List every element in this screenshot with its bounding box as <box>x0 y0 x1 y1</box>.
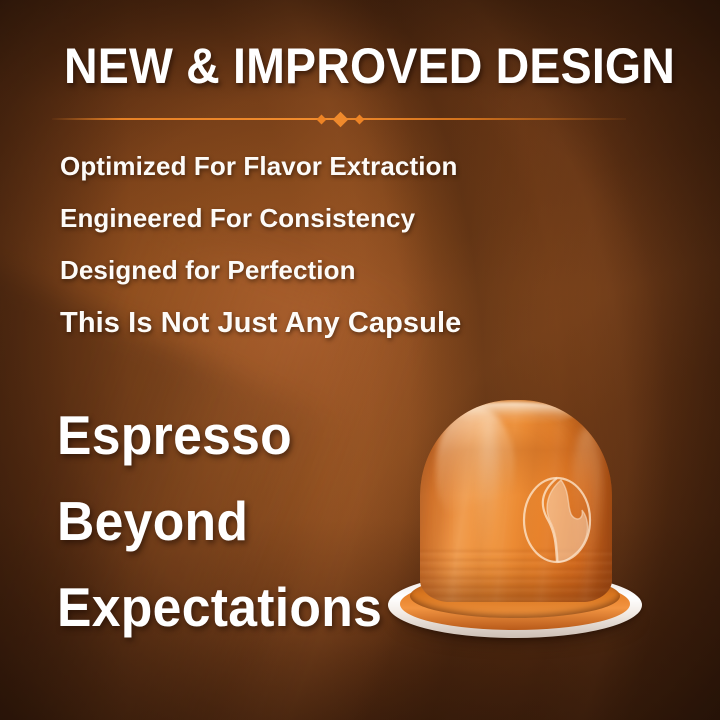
feature-item: This Is Not Just Any Capsule <box>60 296 660 350</box>
capsule-highlight-streak <box>478 414 500 584</box>
capsule-body <box>420 400 612 602</box>
divider <box>52 112 626 126</box>
poster-content: NEW & IMPROVED DESIGN Optimized For Flav… <box>0 0 720 720</box>
capsule-highlight-main <box>436 406 514 526</box>
page-title: NEW & IMPROVED DESIGN <box>64 40 675 93</box>
product-image-capsule <box>384 396 646 648</box>
feature-list: Optimized For Flavor Extraction Engineer… <box>60 140 660 350</box>
diamond-icon-center <box>333 112 349 128</box>
diamond-icon-right <box>355 115 365 125</box>
diamond-icon-left <box>317 115 327 125</box>
tagline-line: Expectations <box>57 564 433 650</box>
promo-poster: NEW & IMPROVED DESIGN Optimized For Flav… <box>0 0 720 720</box>
tagline-line: Beyond <box>57 478 433 564</box>
tagline-line: Espresso <box>57 392 433 478</box>
feature-item: Optimized For Flavor Extraction <box>60 140 660 192</box>
feature-item: Engineered For Consistency <box>60 192 660 244</box>
coffee-bean-flame-icon <box>520 476 594 564</box>
capsule-highlight-rim <box>448 402 578 424</box>
feature-item: Designed for Perfection <box>60 244 660 296</box>
